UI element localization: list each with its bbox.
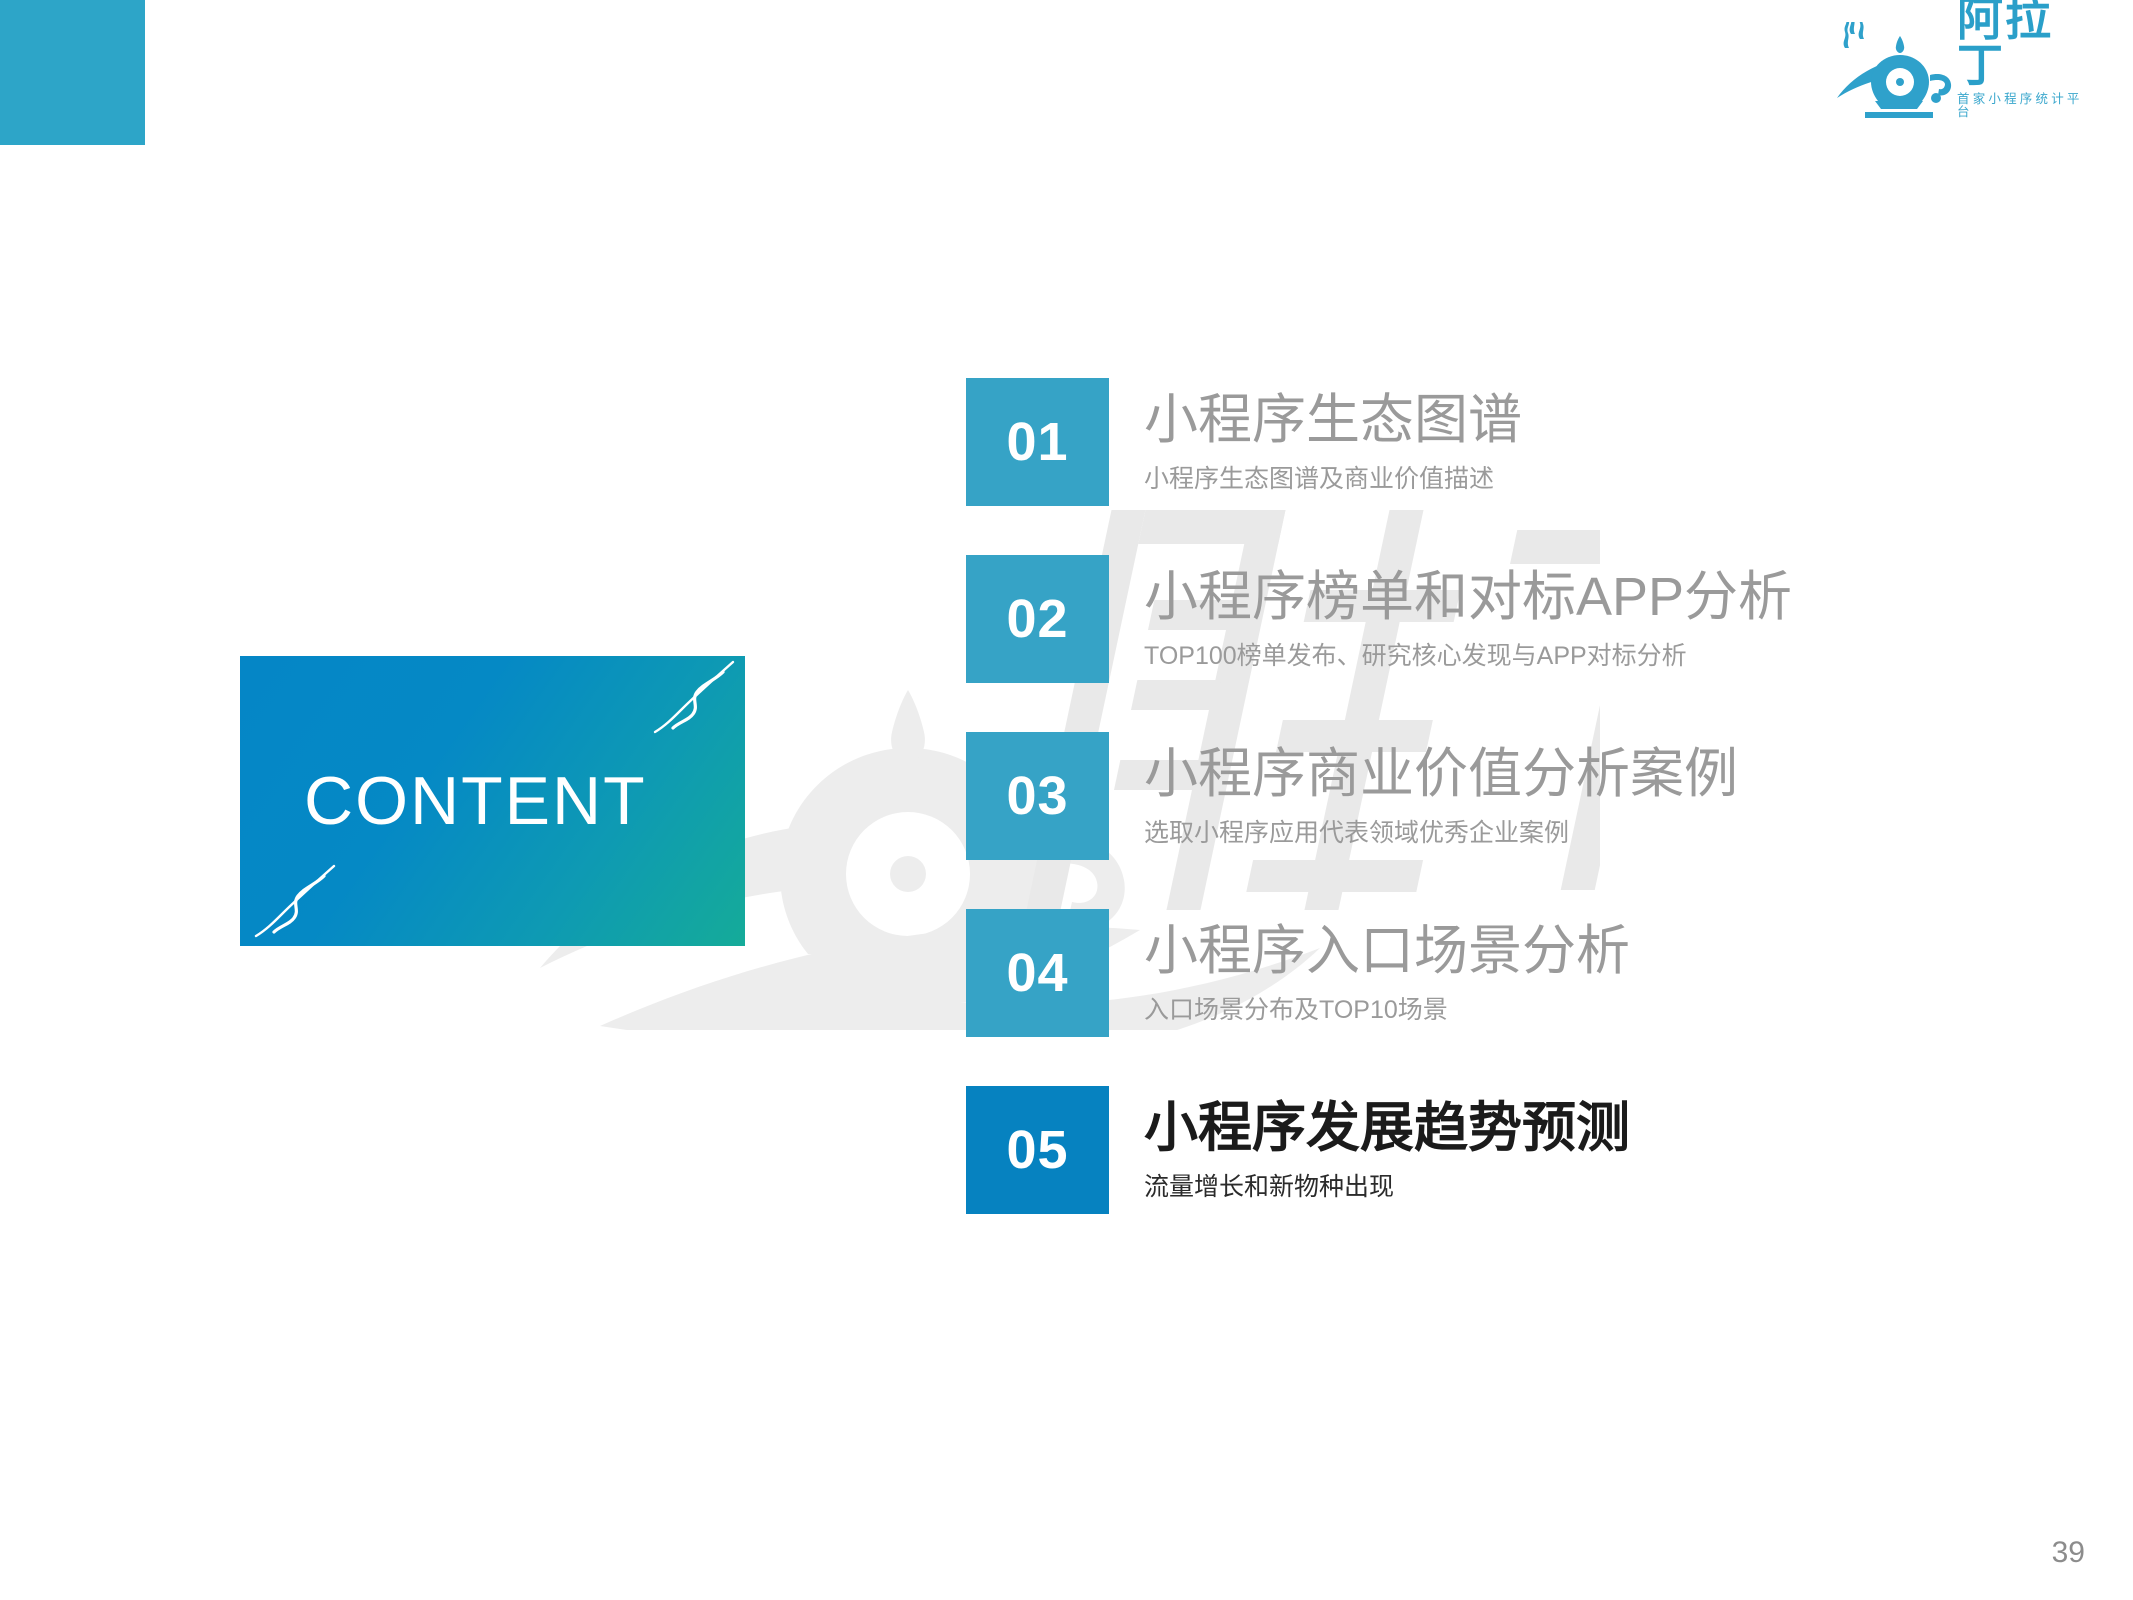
toc-text-group: 小程序入口场景分析 入口场景分布及TOP10场景 <box>1144 909 1630 1037</box>
aladdin-lamp-icon <box>1835 22 1953 122</box>
brand-logo: 阿拉丁 首家小程序统计平台 <box>1835 14 2095 122</box>
table-of-contents: 01 小程序生态图谱 小程序生态图谱及商业价值描述 02 小程序榜单和对标APP… <box>966 378 1966 1214</box>
page-number: 39 <box>2052 1538 2085 1568</box>
toc-number-box: 02 <box>966 555 1109 683</box>
toc-number-box: 03 <box>966 732 1109 860</box>
brand-tagline: 首家小程序统计平台 <box>1957 93 2095 118</box>
brand-name: 阿拉丁 <box>1957 0 2095 88</box>
toc-item-05[interactable]: 05 小程序发展趋势预测 流量增长和新物种出现 <box>966 1086 1966 1214</box>
toc-text-group: 小程序生态图谱 小程序生态图谱及商业价值描述 <box>1144 378 1522 506</box>
toc-item-03[interactable]: 03 小程序商业价值分析案例 选取小程序应用代表领域优秀企业案例 <box>966 732 1966 860</box>
squiggle-flourish-icon <box>645 658 741 738</box>
toc-title: 小程序生态图谱 <box>1144 390 1522 450</box>
squiggle-flourish-icon <box>246 862 342 942</box>
content-hero-box: CONTENT <box>240 656 745 946</box>
toc-title: 小程序商业价值分析案例 <box>1144 744 1738 804</box>
toc-item-01[interactable]: 01 小程序生态图谱 小程序生态图谱及商业价值描述 <box>966 378 1966 506</box>
toc-title: 小程序发展趋势预测 <box>1144 1098 1630 1158</box>
toc-number-box: 04 <box>966 909 1109 1037</box>
toc-item-04[interactable]: 04 小程序入口场景分析 入口场景分布及TOP10场景 <box>966 909 1966 1037</box>
hero-label: CONTENT <box>304 762 647 840</box>
toc-number-box: 01 <box>966 378 1109 506</box>
toc-number: 02 <box>1006 592 1068 646</box>
toc-text-group: 小程序发展趋势预测 流量增长和新物种出现 <box>1144 1086 1630 1214</box>
toc-subtitle: 选取小程序应用代表领域优秀企业案例 <box>1144 820 1738 848</box>
toc-number-box: 05 <box>966 1086 1109 1214</box>
toc-subtitle: 流量增长和新物种出现 <box>1144 1174 1630 1202</box>
toc-number: 03 <box>1006 769 1068 823</box>
toc-subtitle: TOP100榜单发布、研究核心发现与APP对标分析 <box>1144 643 1792 671</box>
toc-number: 01 <box>1006 415 1068 469</box>
toc-number: 05 <box>1006 1123 1068 1177</box>
toc-title: 小程序入口场景分析 <box>1144 921 1630 981</box>
toc-item-02[interactable]: 02 小程序榜单和对标APP分析 TOP100榜单发布、研究核心发现与APP对标… <box>966 555 1966 683</box>
corner-accent-square <box>0 0 145 145</box>
toc-number: 04 <box>1006 946 1068 1000</box>
toc-text-group: 小程序商业价值分析案例 选取小程序应用代表领域优秀企业案例 <box>1144 732 1738 860</box>
toc-subtitle: 小程序生态图谱及商业价值描述 <box>1144 466 1522 494</box>
toc-title: 小程序榜单和对标APP分析 <box>1144 567 1792 627</box>
toc-subtitle: 入口场景分布及TOP10场景 <box>1144 997 1630 1025</box>
toc-text-group: 小程序榜单和对标APP分析 TOP100榜单发布、研究核心发现与APP对标分析 <box>1144 555 1792 683</box>
